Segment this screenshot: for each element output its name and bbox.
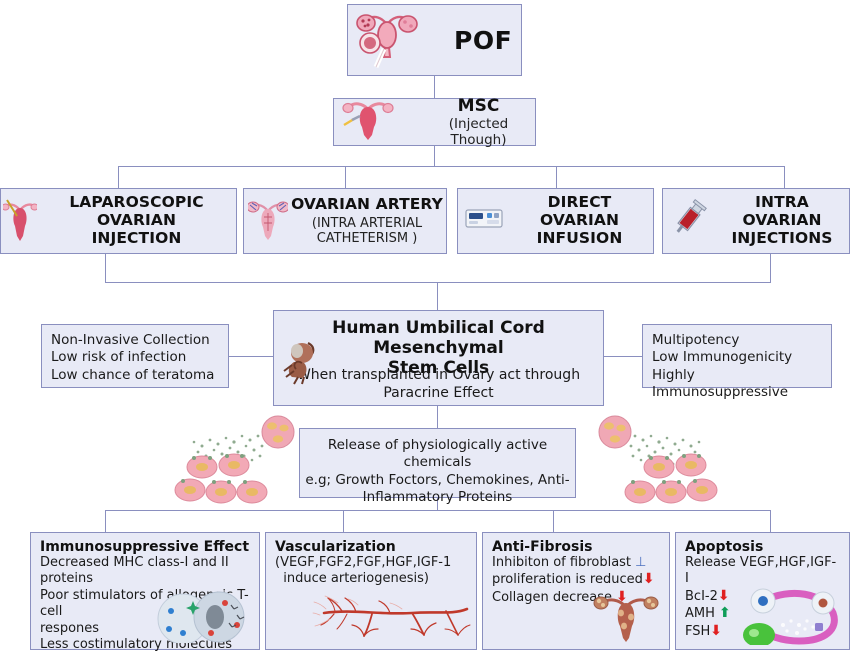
left-trait-line-3: Low chance of teratoma (51, 367, 219, 384)
uterus-injection-illustration (342, 99, 394, 145)
node-effect-immunosuppressive[interactable]: Immunosuppressive Effect Decreased MHC c… (30, 532, 260, 650)
effect-3-line-2: proliferation is reduced (492, 572, 643, 587)
node-method-direct-infusion-line2: INFUSION (506, 230, 653, 248)
node-method-laparoscopic-line1: LAPAROSCOPIC OVARIAN (37, 194, 236, 230)
node-msc-label: MSC (422, 96, 535, 116)
node-method-ovarian-artery-sub1: (INTRA ARTERIAL (288, 216, 446, 231)
release-line-1: Release of physiologically active chemic… (300, 437, 575, 472)
immune-cells-illustration (153, 589, 253, 647)
connector-left-traits (229, 356, 273, 357)
diagram-canvas: POF MSC (Injected Though) (0, 0, 850, 652)
node-effect-anti-fibrosis[interactable]: Anti-Fibrosis Inhibiton of fibroblast ⊥ … (482, 532, 670, 650)
blood-vessel-branching-illustration (312, 589, 472, 645)
node-release-chemicals[interactable]: Release of physiologically active chemic… (299, 428, 576, 498)
uterus-artery-icon (248, 197, 288, 245)
node-method-laparoscopic-line2: INJECTION (37, 230, 236, 248)
node-method-direct-infusion[interactable]: DIRECT OVARIAN INFUSION (457, 188, 654, 254)
connector-to-method-3 (556, 166, 557, 188)
effect-2-heading: Vascularization (275, 539, 467, 555)
connector-to-effect-4 (770, 510, 771, 532)
connector-effects-bus (105, 510, 771, 511)
node-method-direct-infusion-line1: DIRECT OVARIAN (506, 194, 653, 230)
effect-2-line-2: induce arteriogenesis) (275, 571, 467, 587)
connector-center-to-release (437, 406, 438, 428)
inhibition-perpendicular-icon: ⊥ (635, 555, 646, 570)
syringe-icon (669, 198, 709, 244)
node-method-ovarian-artery-sub2: CATHETERISM ) (288, 231, 446, 246)
node-msc[interactable]: MSC (Injected Though) (333, 98, 536, 146)
effect-4-line-2: BcI-2 (685, 589, 718, 604)
connector-to-effect-3 (553, 510, 554, 532)
connector-pof-to-msc (434, 76, 435, 98)
right-trait-line-1: Multipotency (652, 332, 822, 349)
arrow-down-icon: ⬇ (710, 623, 722, 639)
effect-3-line-2-row: proliferation is reduced⬇ (492, 571, 660, 589)
left-trait-line-2: Low risk of infection (51, 349, 219, 366)
secreting-cells-cluster-right (596, 412, 721, 508)
release-line-2: e.g; Growth Foctors, Chemokines, Anti- (300, 472, 575, 489)
effect-1-heading: Immunosuppressive Effect (40, 539, 250, 555)
connector-methods-bus (118, 166, 784, 167)
arrow-down-icon: ⬇ (718, 588, 730, 604)
release-line-3: Inflammatory Proteins (300, 489, 575, 506)
arrow-up-icon: ⬆ (719, 605, 731, 621)
secreting-cells-cluster-left (172, 412, 297, 508)
effect-4-line-4: FSH (685, 624, 710, 639)
uterus-ovaries-illustration (593, 593, 659, 647)
node-method-ovarian-artery[interactable]: OVARIAN ARTERY (INTRA ARTERIAL CATHETERI… (243, 188, 447, 254)
node-method-ovarian-artery-line1: OVARIAN ARTERY (288, 196, 446, 214)
connector-to-method-2 (345, 166, 346, 188)
effect-4-line-3: AMH (685, 606, 719, 621)
node-pof[interactable]: POF (347, 4, 522, 76)
uterus-ovary-illustration (354, 5, 420, 75)
infusion-pump-icon (464, 204, 506, 238)
right-trait-line-2: Low Immunogenicity (652, 349, 822, 366)
node-right-traits[interactable]: Multipotency Low Immunogenicity Highly I… (642, 324, 832, 388)
connector-methods-merge (105, 282, 771, 283)
uterus-laparoscope-icon (3, 196, 37, 246)
left-trait-line-1: Non-Invasive Collection (51, 332, 219, 349)
node-msc-sublabel: (Injected Though) (422, 116, 535, 148)
arrow-down-icon: ⬇ (643, 571, 655, 587)
connector-method1-down (105, 254, 106, 282)
right-trait-line-3: Highly Immunosuppressive (652, 367, 822, 402)
node-effect-apoptosis[interactable]: Apoptosis Release VEGF,HGF,IGF-I BcI-2⬇ … (675, 532, 850, 650)
effect-1-line-1: Decreased MHC class-I and II proteins (40, 555, 250, 588)
connector-right-traits (604, 356, 642, 357)
node-left-traits[interactable]: Non-Invasive Collection Low risk of infe… (41, 324, 229, 388)
connector-merge-to-center (437, 282, 438, 310)
node-method-intra-ovarian[interactable]: INTRA OVARIAN INJECTIONS (662, 188, 850, 254)
node-effect-vascularization[interactable]: Vascularization (VEGF,FGF2,FGF,HGF,IGF-1… (265, 532, 477, 650)
node-method-intra-ovarian-line1: INTRA OVARIAN (715, 194, 849, 230)
effect-3-line-1: Inhibiton of fibroblast (492, 555, 631, 570)
effect-3-heading: Anti-Fibrosis (492, 539, 660, 555)
connector-to-effect-1 (105, 510, 106, 532)
node-method-intra-ovarian-line2: INJECTIONS (715, 230, 849, 248)
node-hucmsc[interactable]: Human Umbilical Cord Mesenchymal Stem Ce… (273, 310, 604, 406)
oocyte-follicle-illustration (737, 579, 847, 649)
connector-method4-down (770, 254, 771, 282)
connector-to-method-1 (118, 166, 119, 188)
connector-to-effect-2 (343, 510, 344, 532)
effect-4-heading: Apoptosis (685, 539, 840, 555)
node-method-laparoscopic[interactable]: LAPAROSCOPIC OVARIAN INJECTION (0, 188, 237, 254)
effect-3-line-1-row: Inhibiton of fibroblast ⊥ (492, 555, 660, 571)
umbilical-cord-fetus-icon (278, 337, 328, 391)
effect-2-line-1: (VEGF,FGF2,FGF,HGF,IGF-1 (275, 555, 467, 571)
connector-msc-down (434, 146, 435, 166)
connector-to-method-4 (784, 166, 785, 188)
node-pof-label: POF (454, 26, 512, 55)
